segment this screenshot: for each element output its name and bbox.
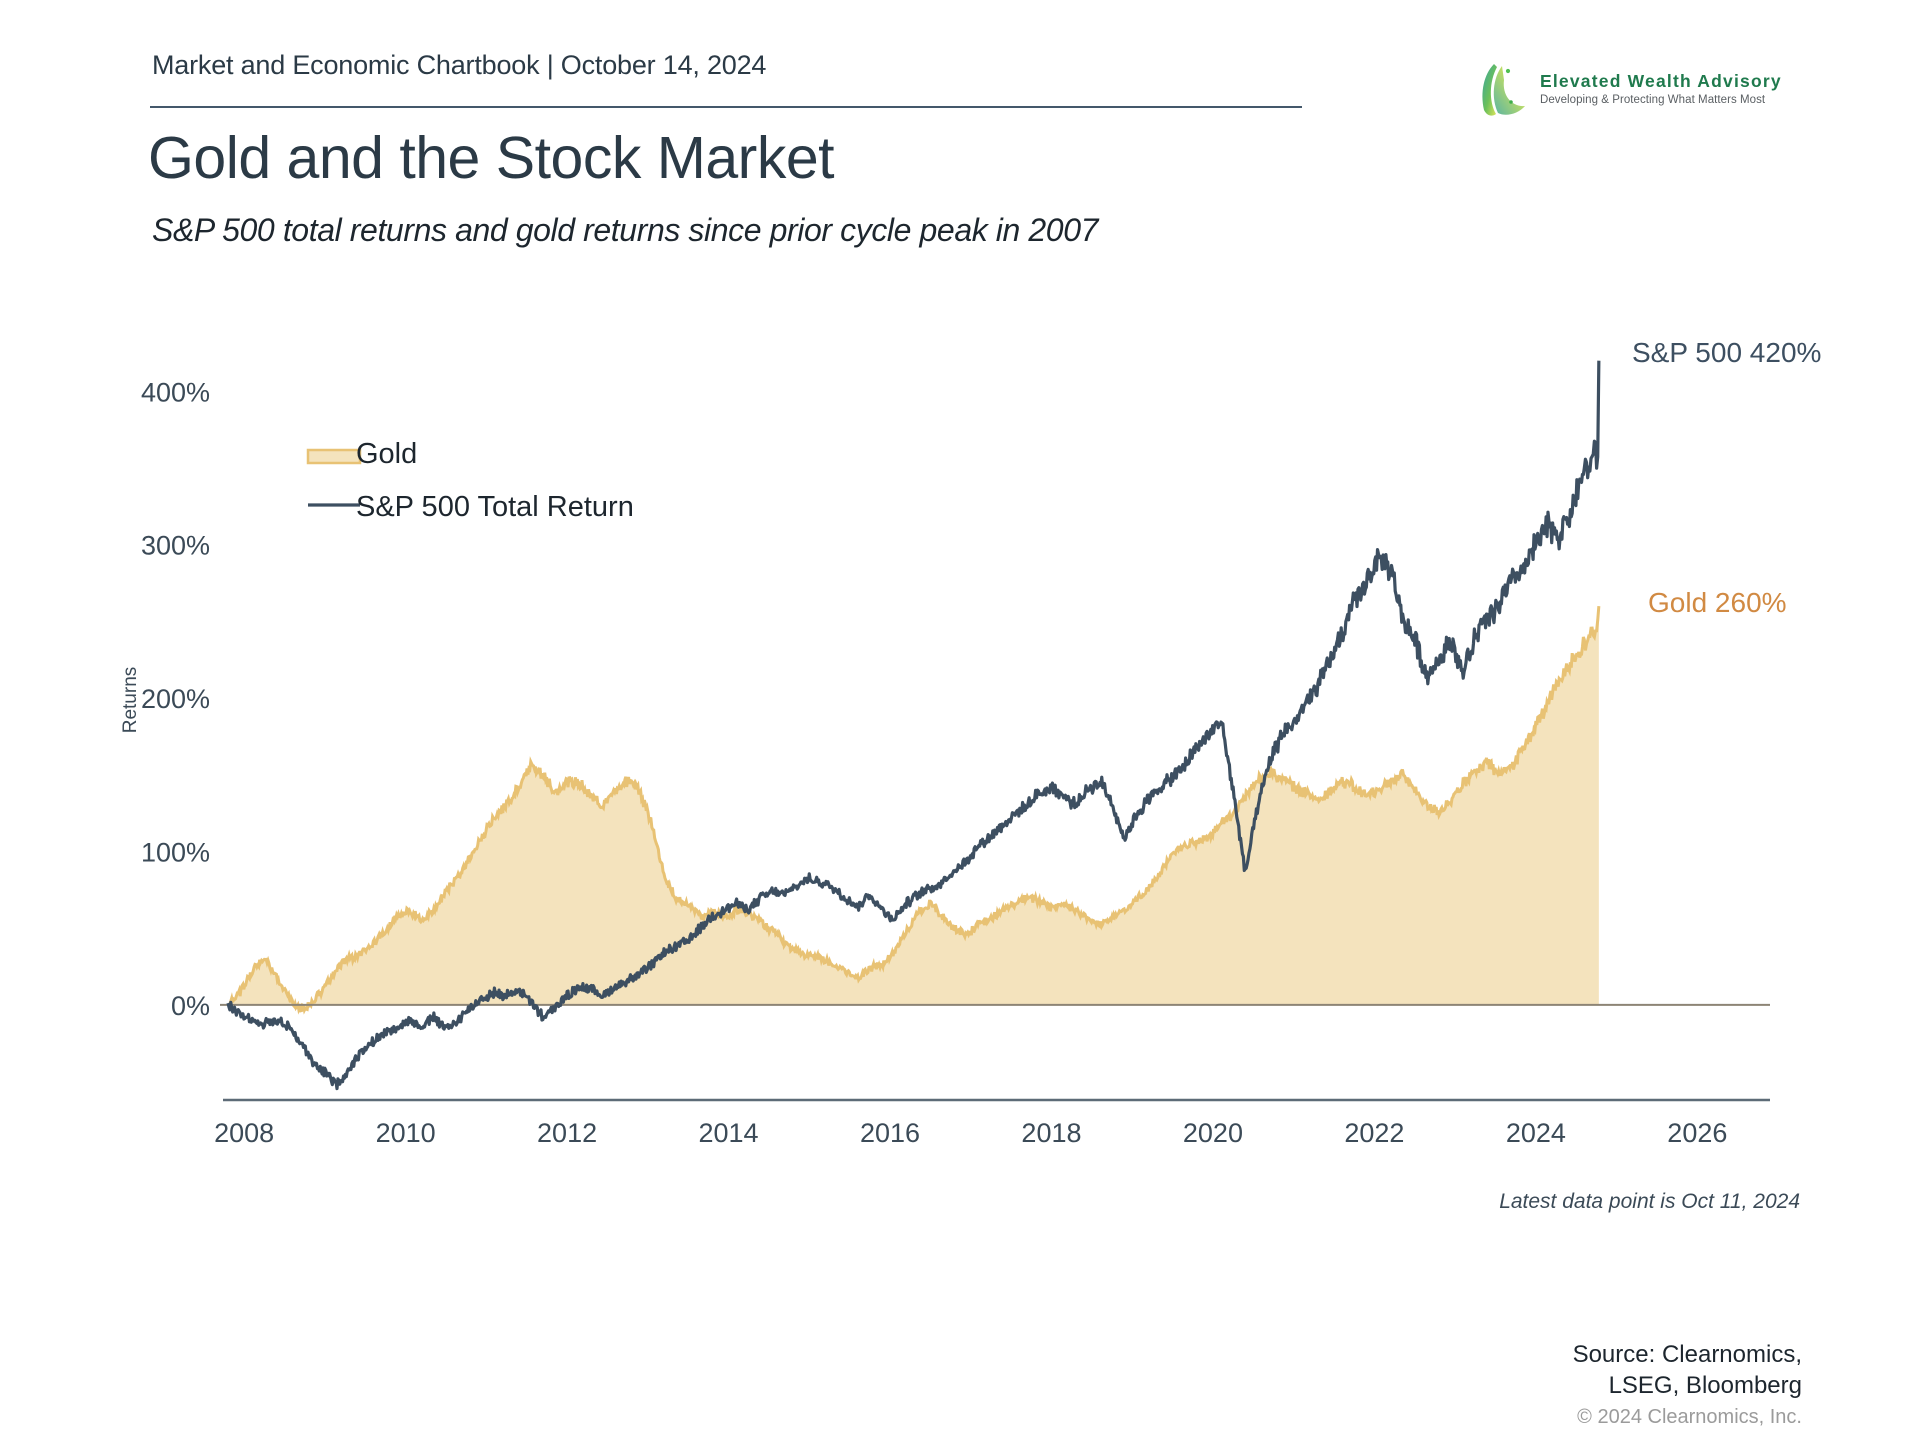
- source-block: Source: Clearnomics, LSEG, Bloomberg © 2…: [1573, 1340, 1802, 1431]
- copyright-notice: © 2024 Clearnomics, Inc.: [1573, 1405, 1802, 1431]
- x-tick-2018: 2018: [1021, 1118, 1081, 1148]
- legend-swatch-gold: [308, 450, 360, 463]
- x-tick-2012: 2012: [537, 1118, 597, 1148]
- sp500-endpoint-label: S&P 500 420%: [1632, 337, 1821, 368]
- leaf-wave-logo-icon: [1478, 60, 1530, 118]
- x-tick-2010: 2010: [376, 1118, 436, 1148]
- y-tick-300%: 300%: [141, 531, 210, 561]
- y-tick-200%: 200%: [141, 684, 210, 714]
- x-tick-2026: 2026: [1667, 1118, 1727, 1148]
- y-tick-400%: 400%: [141, 377, 210, 407]
- page-title: Gold and the Stock Market: [148, 124, 834, 192]
- sp500-series-line: [228, 361, 1599, 1089]
- y-tick-100%: 100%: [141, 838, 210, 868]
- brand-text: Elevated Wealth Advisory Developing & Pr…: [1540, 72, 1782, 105]
- x-tick-2024: 2024: [1506, 1118, 1566, 1148]
- x-tick-2008: 2008: [214, 1118, 274, 1148]
- y-axis-title: Returns: [120, 667, 141, 734]
- y-tick-0%: 0%: [171, 991, 210, 1021]
- x-axis-tick-labels: 2008201020122014201620182020202220242026: [214, 1118, 1727, 1148]
- header-divider: [150, 106, 1302, 108]
- gold-endpoint-label: Gold 260%: [1648, 587, 1787, 618]
- brand-name: Elevated Wealth Advisory: [1540, 72, 1782, 90]
- brand-logo: Elevated Wealth Advisory Developing & Pr…: [1478, 60, 1782, 118]
- gold-series-line: [228, 606, 1599, 1011]
- latest-data-point-note: Latest data point is Oct 11, 2024: [1499, 1190, 1800, 1214]
- chart-legend: Gold S&P 500 Total Return: [308, 438, 634, 523]
- brand-tagline: Developing & Protecting What Matters Mos…: [1540, 94, 1782, 106]
- source-line-1: Source: Clearnomics,: [1573, 1340, 1802, 1371]
- x-tick-2014: 2014: [699, 1118, 759, 1148]
- legend-label-gold: Gold: [356, 438, 417, 470]
- legend-label-sp500: S&P 500 Total Return: [356, 491, 634, 523]
- y-axis-tick-labels: 0%100%200%300%400%: [141, 377, 210, 1021]
- page-subtitle: S&P 500 total returns and gold returns s…: [152, 212, 1098, 249]
- x-tick-2022: 2022: [1344, 1118, 1404, 1148]
- x-tick-2016: 2016: [860, 1118, 920, 1148]
- gold-area-fill: [228, 606, 1599, 1011]
- chartbook-kicker: Market and Economic Chartbook | October …: [152, 50, 766, 81]
- source-line-2: LSEG, Bloomberg: [1573, 1371, 1802, 1402]
- x-tick-2020: 2020: [1183, 1118, 1243, 1148]
